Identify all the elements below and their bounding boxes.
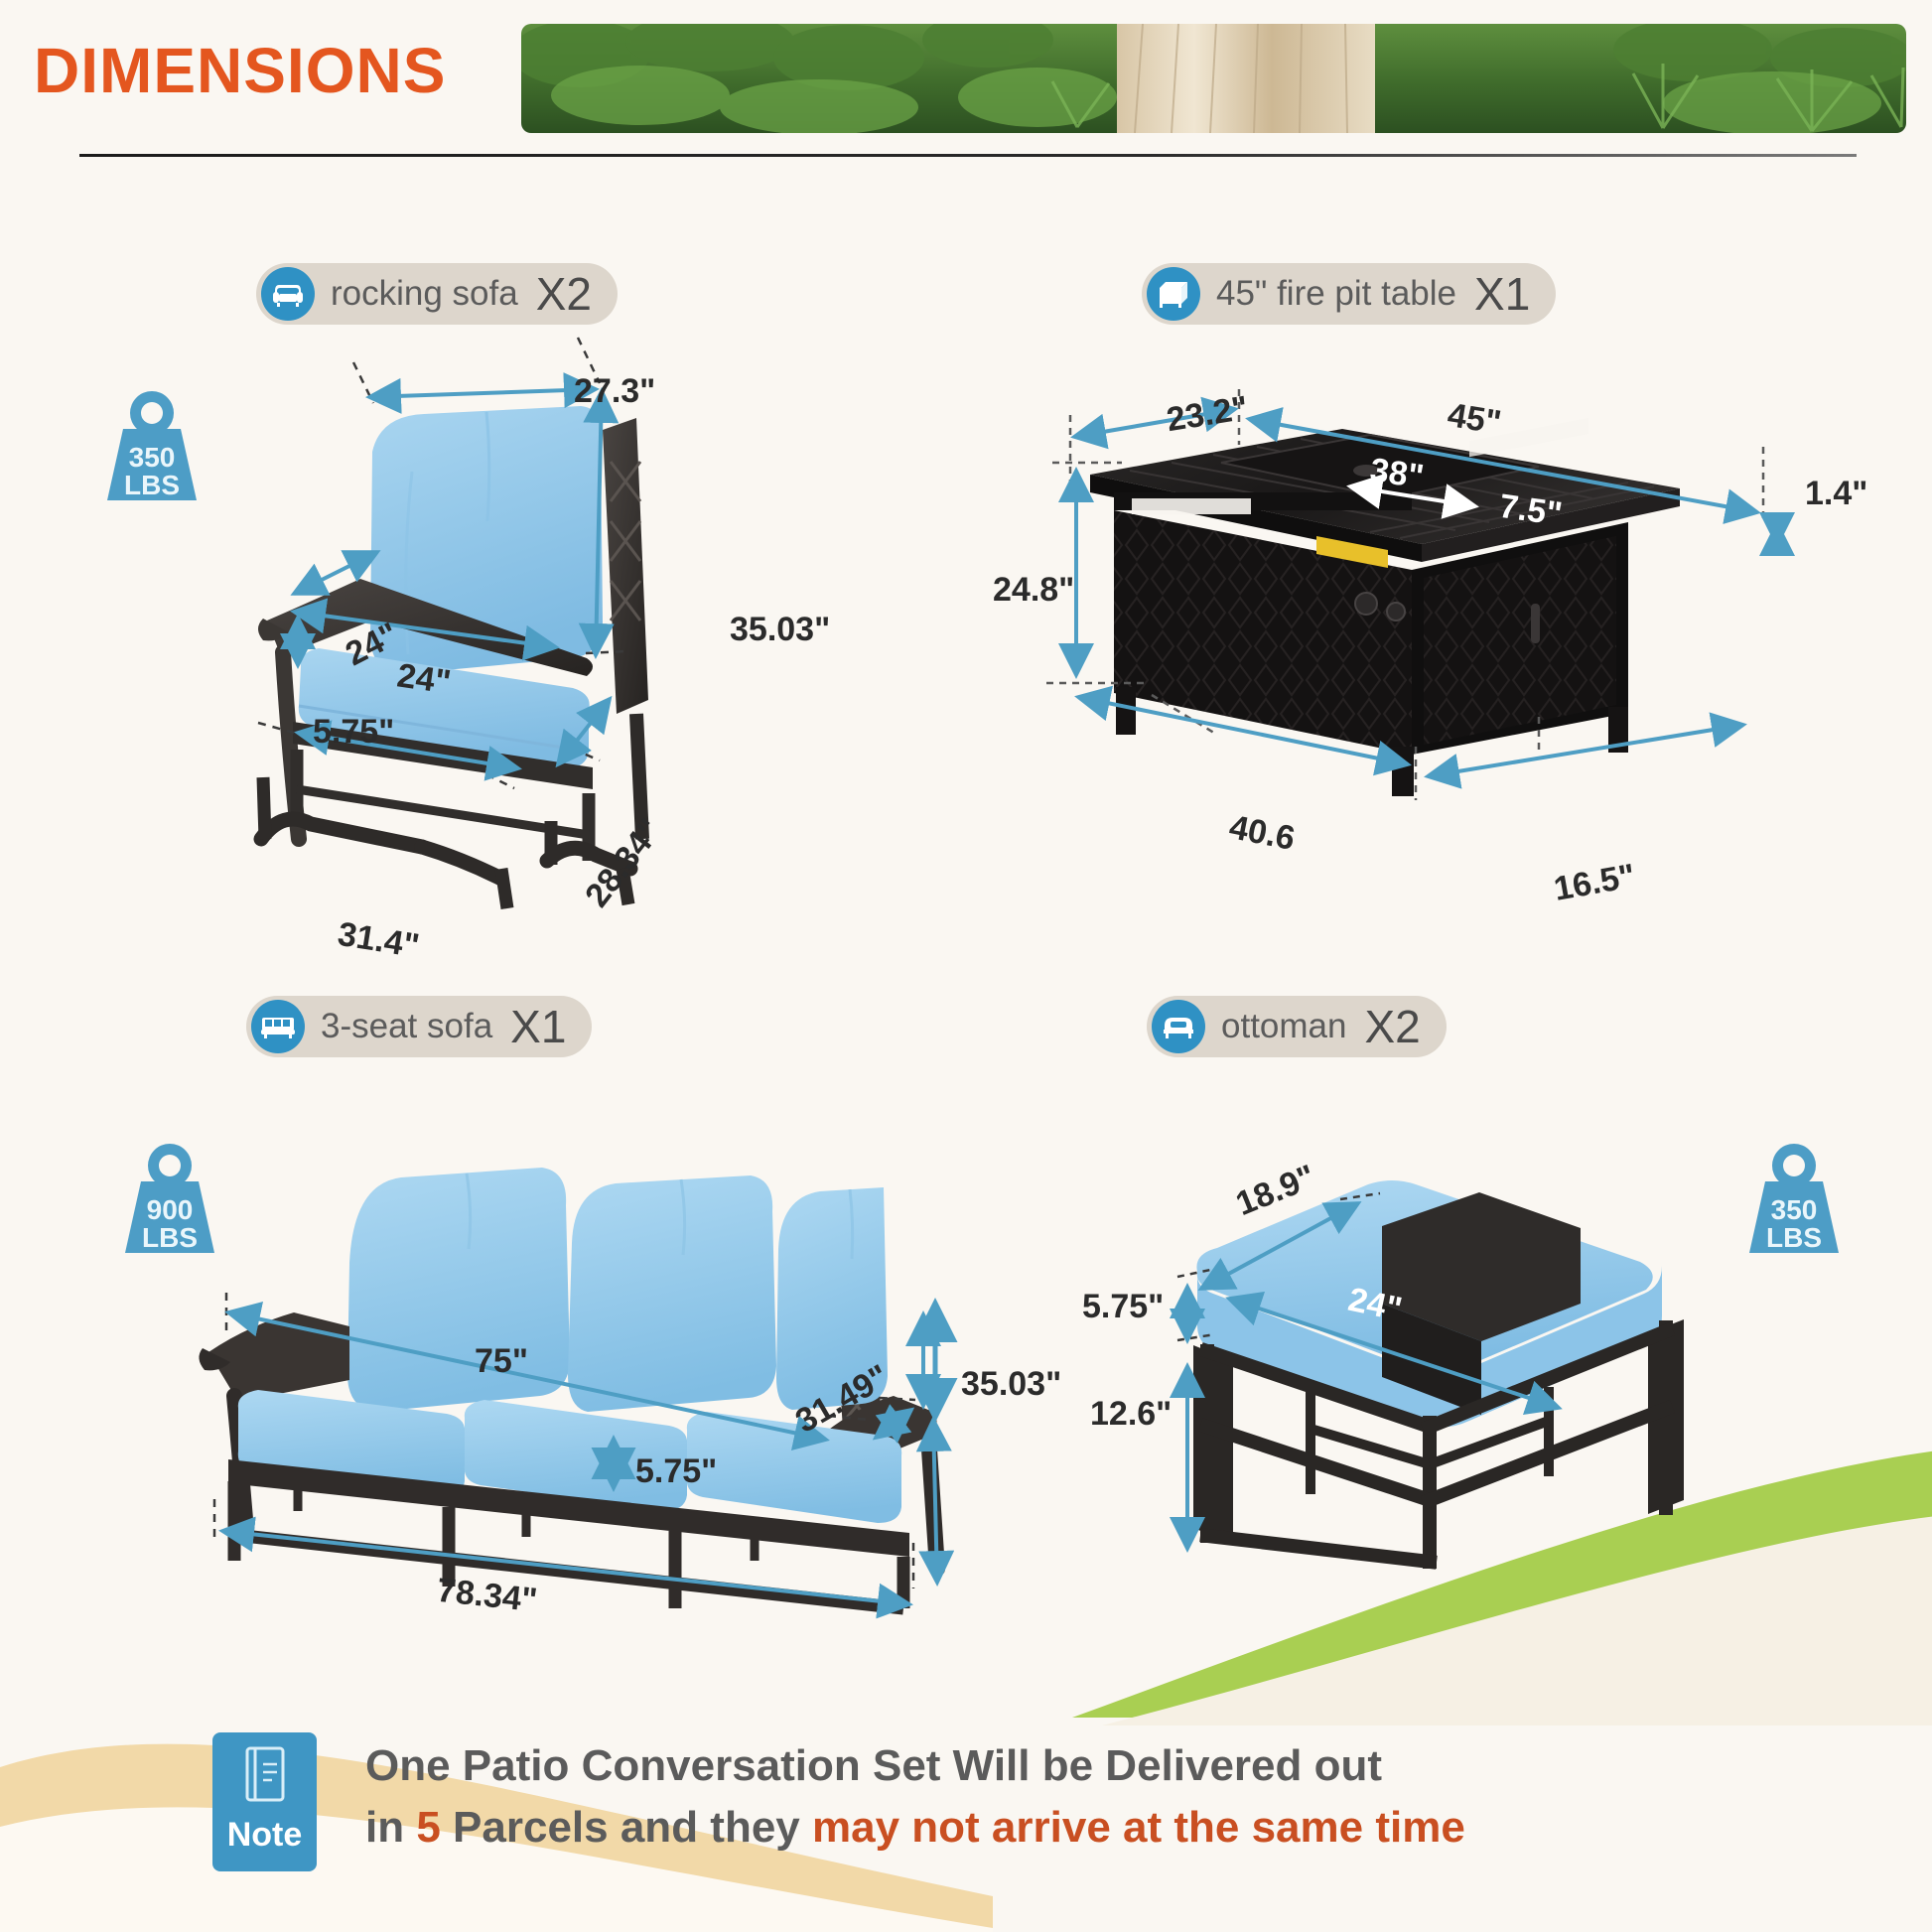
note-text: One Patio Conversation Set Will be Deliv… — [365, 1735, 1785, 1859]
dim-rocking-back-width: 27.3" — [574, 372, 655, 411]
book-icon — [239, 1744, 291, 1810]
note-line2-prefix: in — [365, 1803, 416, 1852]
dim-rocking-seat-width: 24" — [395, 656, 454, 702]
section-label-text: 45" fire pit table — [1216, 274, 1456, 314]
weight-unit: LBS — [124, 470, 180, 500]
dim-rocking-cushion: 5.75" — [313, 713, 394, 752]
weight-badge-ottoman: 350 LBS — [1739, 1140, 1849, 1259]
weight-value: 350 — [1771, 1194, 1818, 1225]
section-label-text: ottoman — [1221, 1007, 1346, 1046]
section-label-three-seat-sofa: 3-seat sofa X1 — [246, 996, 592, 1057]
note-parcel-count: 5 — [416, 1803, 440, 1852]
infographic-root: DIMENSIONS — [0, 0, 1932, 1932]
dim-firepit-height: 24.8" — [993, 571, 1074, 610]
rocking-sofa-dimension-lines — [199, 367, 953, 963]
section-quantity: X1 — [1474, 267, 1530, 321]
section-quantity: X2 — [1364, 1000, 1420, 1053]
section-label-rocking-sofa: rocking sofa X2 — [256, 263, 618, 325]
table-icon — [1147, 267, 1200, 321]
header-divider — [79, 154, 1857, 157]
page-title: DIMENSIONS — [34, 34, 446, 107]
page-header: DIMENSIONS — [0, 0, 1932, 174]
note-highlight: may not arrive at the same time — [812, 1803, 1465, 1852]
header-photo — [521, 24, 1906, 133]
section-quantity: X1 — [510, 1000, 566, 1053]
note-line2-mid: Parcels and they — [441, 1803, 812, 1852]
dim-ottoman-cushion: 5.75" — [1082, 1288, 1164, 1326]
section-label-text: 3-seat sofa — [321, 1007, 492, 1046]
section-label-ottoman: ottoman X2 — [1147, 996, 1447, 1057]
section-quantity: X2 — [536, 267, 592, 321]
weight-unit: LBS — [1766, 1222, 1822, 1253]
dim-rocking-height: 35.03" — [730, 611, 830, 649]
ottoman-icon — [1152, 1000, 1205, 1053]
dim-ottoman-frame-height: 12.6" — [1090, 1395, 1172, 1434]
dim-firepit-burner-width: 38" — [1368, 451, 1427, 496]
section-label-text: rocking sofa — [331, 274, 518, 314]
dim-sofa-height: 35.03" — [961, 1365, 1061, 1404]
note-badge-label: Note — [227, 1816, 303, 1855]
note-badge: Note — [212, 1732, 317, 1871]
dim-firepit-top-thickness: 1.4" — [1805, 475, 1867, 513]
weight-badge-rocking-sofa: 350 LBS — [97, 387, 207, 506]
sofa-icon — [251, 1000, 305, 1053]
dim-firepit-top-width: 45" — [1445, 396, 1503, 443]
weight-value: 350 — [129, 442, 176, 473]
dim-sofa-seat-width: 75" — [475, 1342, 528, 1381]
dim-sofa-cushion: 5.75" — [635, 1452, 717, 1491]
section-label-fire-pit-table: 45" fire pit table X1 — [1142, 263, 1556, 325]
ottoman-dimension-lines — [1092, 1152, 1747, 1569]
armchair-icon — [261, 267, 315, 321]
note-line1: One Patio Conversation Set Will be Deliv… — [365, 1741, 1382, 1790]
